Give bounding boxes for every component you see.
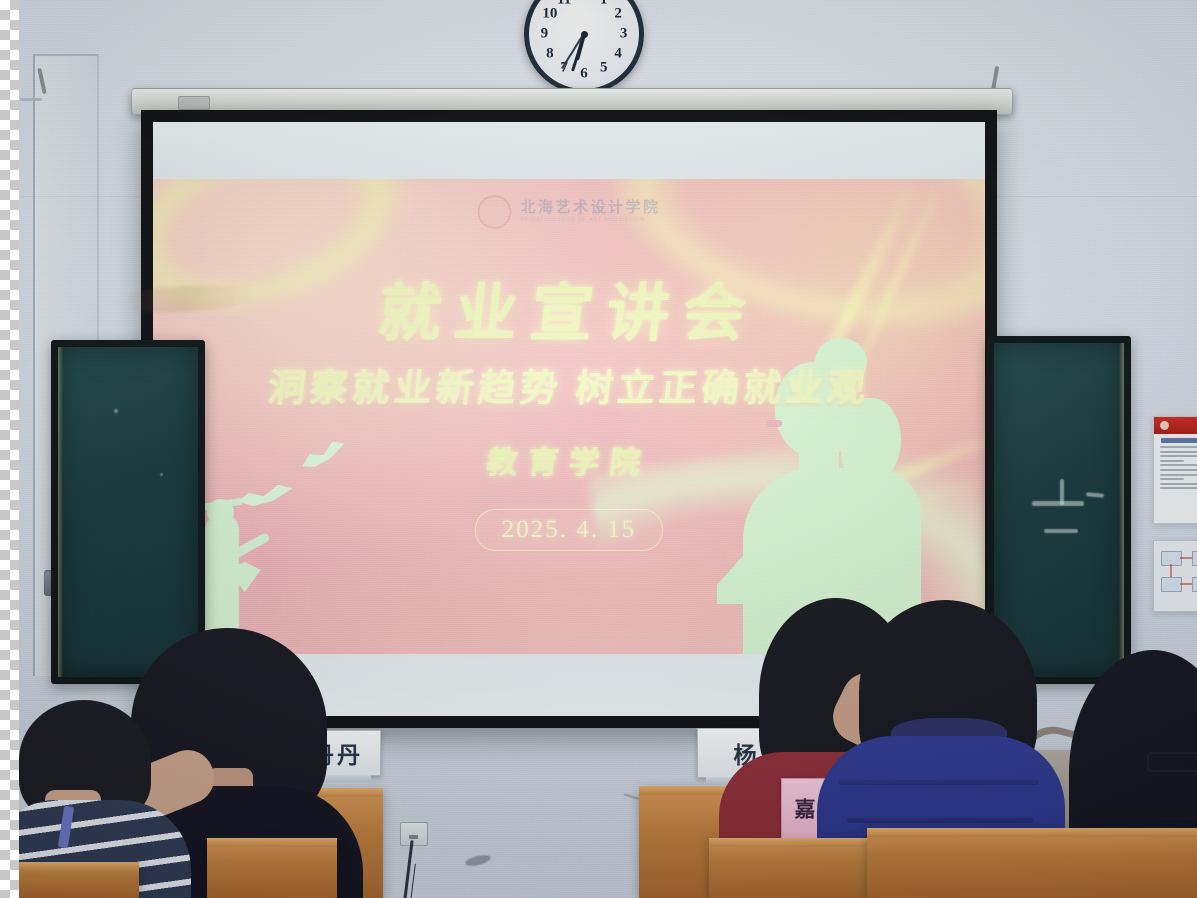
flowchart-connector — [1180, 557, 1192, 559]
fabric-fold — [847, 818, 1033, 823]
desk-surface — [207, 838, 337, 847]
flowchart-node — [1161, 577, 1182, 592]
clock-numeral-8: 8 — [546, 45, 554, 62]
clock-numeral-10: 10 — [542, 6, 557, 23]
flowchart-connector — [1180, 583, 1192, 585]
poster-process-flowchart — [1153, 540, 1197, 612]
poster-safety-notice — [1153, 416, 1197, 524]
blackboard-left — [51, 340, 205, 684]
desk-surface — [19, 862, 139, 871]
poster-text-line — [1160, 460, 1184, 462]
blackboard-right-edge — [1119, 343, 1124, 677]
clock-numeral-6: 6 — [580, 65, 588, 82]
screen-blank-band-top — [153, 122, 985, 179]
poster-text-line — [1160, 446, 1197, 448]
fabric-fold — [839, 780, 1039, 785]
screenshot-root: 12 1 2 3 4 5 6 7 8 9 10 11 — [0, 0, 1197, 898]
poster-text-line — [1160, 451, 1197, 453]
chalk-mark — [114, 409, 118, 413]
poster-text-line — [1160, 464, 1197, 466]
flowchart-node — [1192, 577, 1197, 592]
poster-text-line — [1160, 469, 1197, 471]
classroom-photograph: 12 1 2 3 4 5 6 7 8 9 10 11 — [19, 0, 1197, 898]
poster-text-line — [1160, 455, 1197, 457]
clock-numeral-3: 3 — [620, 26, 628, 43]
desk — [867, 828, 1197, 898]
chalk-mark — [1086, 492, 1104, 498]
desk — [207, 838, 337, 898]
poster-header-band — [1154, 417, 1197, 434]
flowchart-node — [1192, 551, 1197, 566]
chalk-mark — [1060, 479, 1064, 505]
poster-title-bar — [1161, 438, 1197, 443]
blackboard-left-edge — [58, 347, 63, 677]
flowchart-connector — [1170, 564, 1172, 577]
desk — [19, 862, 139, 898]
clock-numeral-2: 2 — [614, 6, 622, 23]
chalk-mark — [1032, 501, 1084, 506]
wall-power-outlet[interactable] — [400, 822, 428, 846]
screen-brand-badge — [178, 96, 210, 110]
presentation-slide: 北海艺术设计学院 BEIHAI COLLEGE OF ART AND DESIG… — [153, 179, 985, 654]
slide-projection-noise — [153, 179, 985, 654]
clock-numeral-9: 9 — [541, 26, 549, 43]
clock-center-pin — [581, 31, 588, 38]
clock-numeral-12: 12 — [577, 0, 592, 3]
poster-text-line — [1160, 474, 1197, 476]
poster-text-line — [1160, 487, 1197, 489]
name-card-text: 嘉 — [789, 798, 819, 822]
poster-text-line — [1160, 478, 1184, 480]
eyeglasses-icon — [1147, 752, 1197, 772]
desk-surface — [867, 828, 1197, 837]
transparency-checkerboard-strip — [0, 0, 19, 898]
clock-numeral-4: 4 — [614, 45, 622, 62]
chalk-mark — [160, 473, 163, 476]
clock-numeral-1: 1 — [600, 0, 608, 8]
poster-text-line — [1160, 483, 1197, 485]
clock-numeral-11: 11 — [557, 0, 571, 8]
screen-cord — [20, 98, 42, 101]
clock-numeral-5: 5 — [600, 60, 608, 77]
chalk-mark — [1044, 529, 1078, 533]
